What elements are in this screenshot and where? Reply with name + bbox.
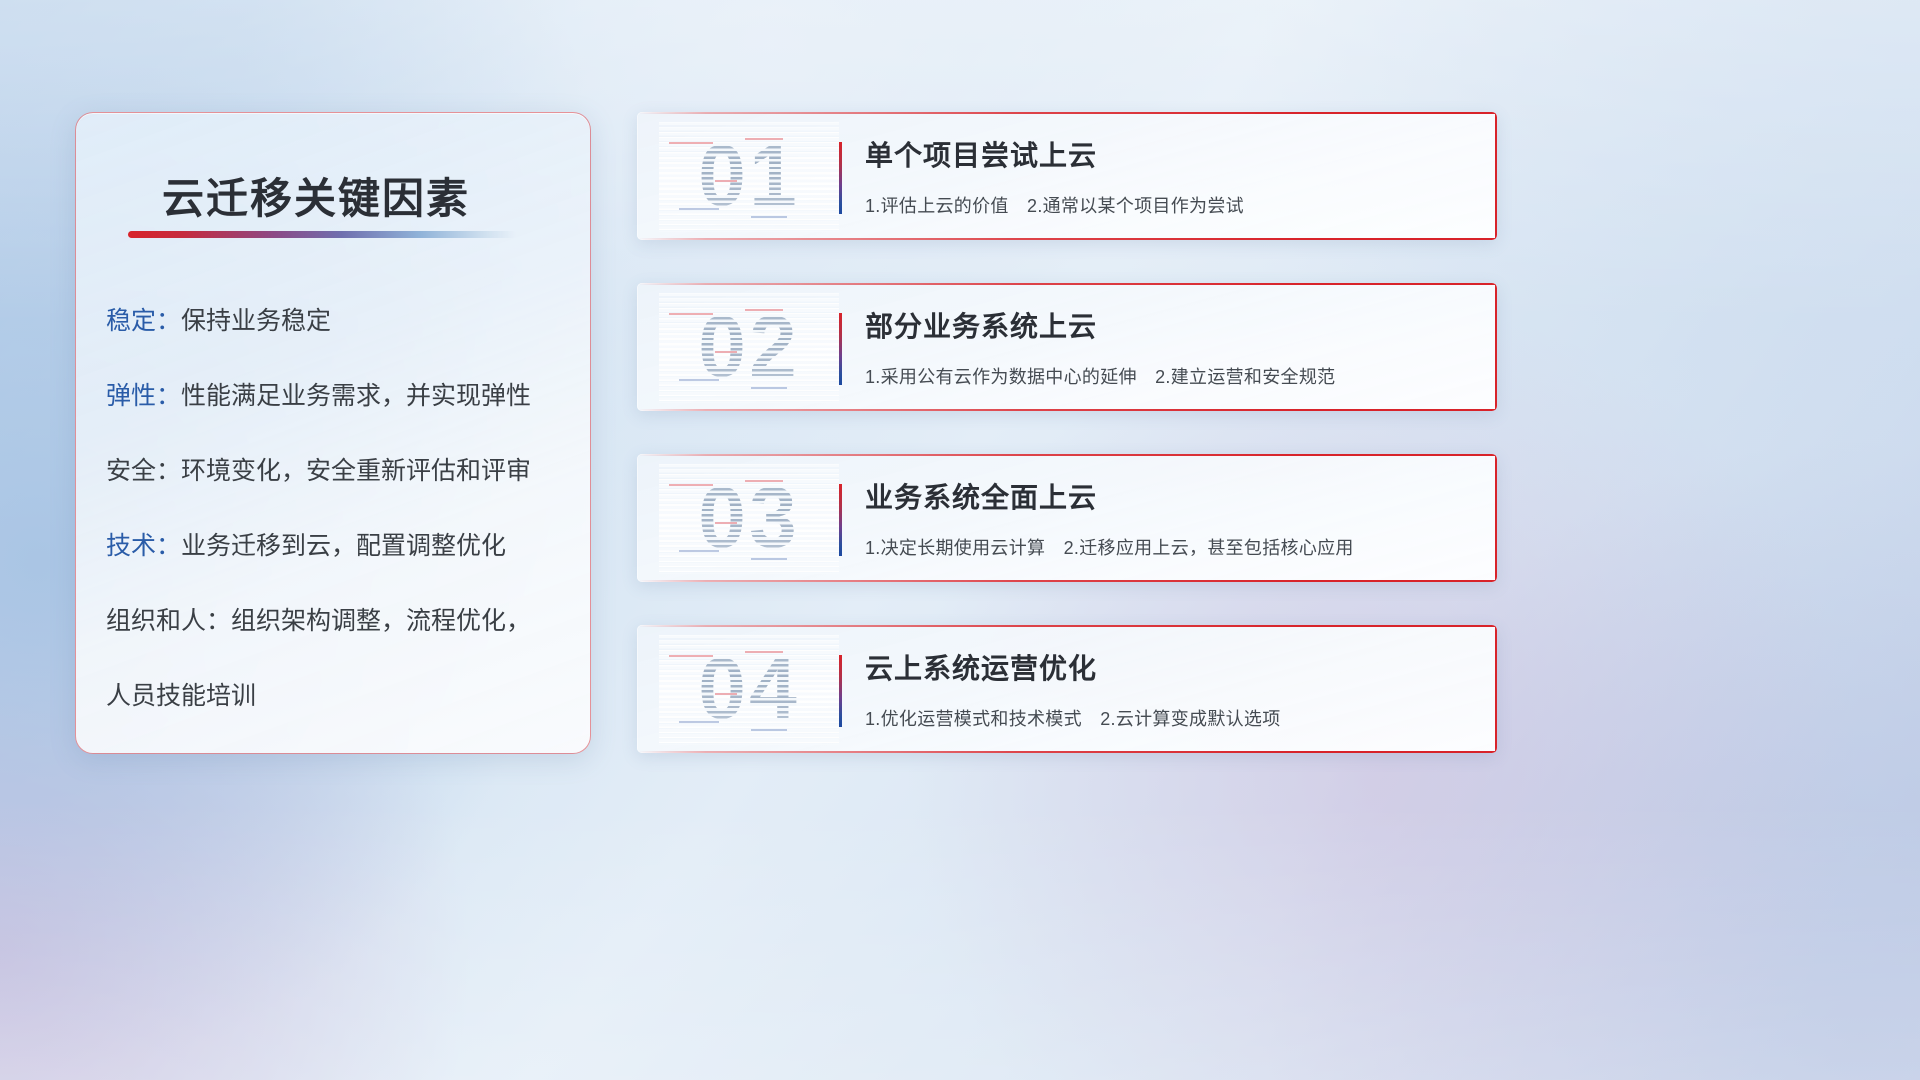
key-factor-value: 人员技能培训	[106, 682, 256, 710]
stage-cards: 01单个项目尝试上云1.评估上云的价值 2.通常以某个项目作为尝试02部分业务系…	[637, 112, 1497, 753]
card-title: 部分业务系统上云	[865, 305, 1469, 345]
card-right-edge	[1495, 112, 1497, 240]
stage-number-striped: 03	[659, 462, 839, 574]
card-right-edge	[1495, 283, 1497, 411]
title-underline-gradient	[128, 231, 516, 238]
card-title: 业务系统全面上云	[865, 476, 1469, 516]
key-factor-row: 稳定：保持业务稳定	[106, 309, 576, 334]
key-factor-value: 性能满足业务需求，并实现弹性	[181, 382, 531, 410]
page-title: 云迁移关键因素	[162, 165, 470, 226]
card-description: 1.决定长期使用云计算 2.迁移应用上云，甚至包括核心应用	[865, 534, 1469, 560]
key-factor-row: 弹性：性能满足业务需求，并实现弹性	[106, 384, 576, 409]
key-factor-label: 弹性：	[106, 382, 181, 410]
stage-card[interactable]: 02部分业务系统上云1.采用公有云作为数据中心的延伸 2.建立运营和安全规范	[637, 283, 1497, 411]
card-description: 1.优化运营模式和技术模式 2.云计算变成默认选项	[865, 705, 1469, 731]
stage-card[interactable]: 04云上系统运营优化1.优化运营模式和技术模式 2.云计算变成默认选项	[637, 625, 1497, 753]
key-factors-panel: 云迁移关键因素 稳定：保持业务稳定弹性：性能满足业务需求，并实现弹性安全：环境变…	[75, 112, 591, 754]
stage-card[interactable]: 01单个项目尝试上云1.评估上云的价值 2.通常以某个项目作为尝试	[637, 112, 1497, 240]
key-factor-label: 稳定：	[106, 307, 181, 335]
card-divider-bar	[839, 142, 842, 214]
key-factor-value: 保持业务稳定	[181, 307, 331, 335]
card-divider-bar	[839, 655, 842, 727]
card-divider-bar	[839, 313, 842, 385]
stage-number-text: 04	[698, 640, 800, 739]
card-body: 单个项目尝试上云1.评估上云的价值 2.通常以某个项目作为尝试	[865, 134, 1469, 218]
card-divider-bar	[839, 484, 842, 556]
card-body: 业务系统全面上云1.决定长期使用云计算 2.迁移应用上云，甚至包括核心应用	[865, 476, 1469, 560]
card-body: 云上系统运营优化1.优化运营模式和技术模式 2.云计算变成默认选项	[865, 647, 1469, 731]
stage-number-text: 02	[698, 298, 800, 397]
key-factor-row: 技术：业务迁移到云，配置调整优化	[106, 534, 576, 559]
key-factor-value: 业务迁移到云，配置调整优化	[181, 532, 506, 560]
stage-number-text: 01	[698, 127, 800, 226]
key-factor-value: 环境变化，安全重新评估和评审	[181, 457, 531, 485]
key-factor-label: 组织和人：	[106, 607, 231, 635]
key-factor-row: 人员技能培训	[106, 684, 576, 709]
stage-number-striped: 01	[659, 120, 839, 232]
stage-number-text: 03	[698, 469, 800, 568]
card-title: 单个项目尝试上云	[865, 134, 1469, 174]
key-factor-row: 安全：环境变化，安全重新评估和评审	[106, 459, 576, 484]
stage-number-striped: 02	[659, 291, 839, 403]
card-description: 1.采用公有云作为数据中心的延伸 2.建立运营和安全规范	[865, 363, 1469, 389]
stage-card[interactable]: 03业务系统全面上云1.决定长期使用云计算 2.迁移应用上云，甚至包括核心应用	[637, 454, 1497, 582]
key-factor-row: 组织和人：组织架构调整，流程优化，	[106, 609, 576, 634]
key-factors-list: 稳定：保持业务稳定弹性：性能满足业务需求，并实现弹性安全：环境变化，安全重新评估…	[106, 309, 576, 709]
stage-number-striped: 04	[659, 633, 839, 745]
key-factor-label: 安全：	[106, 457, 181, 485]
key-factor-label: 技术：	[106, 532, 181, 560]
card-title: 云上系统运营优化	[865, 647, 1469, 687]
card-body: 部分业务系统上云1.采用公有云作为数据中心的延伸 2.建立运营和安全规范	[865, 305, 1469, 389]
key-factor-value: 组织架构调整，流程优化，	[231, 607, 531, 635]
card-description: 1.评估上云的价值 2.通常以某个项目作为尝试	[865, 192, 1469, 218]
card-right-edge	[1495, 625, 1497, 753]
card-right-edge	[1495, 454, 1497, 582]
